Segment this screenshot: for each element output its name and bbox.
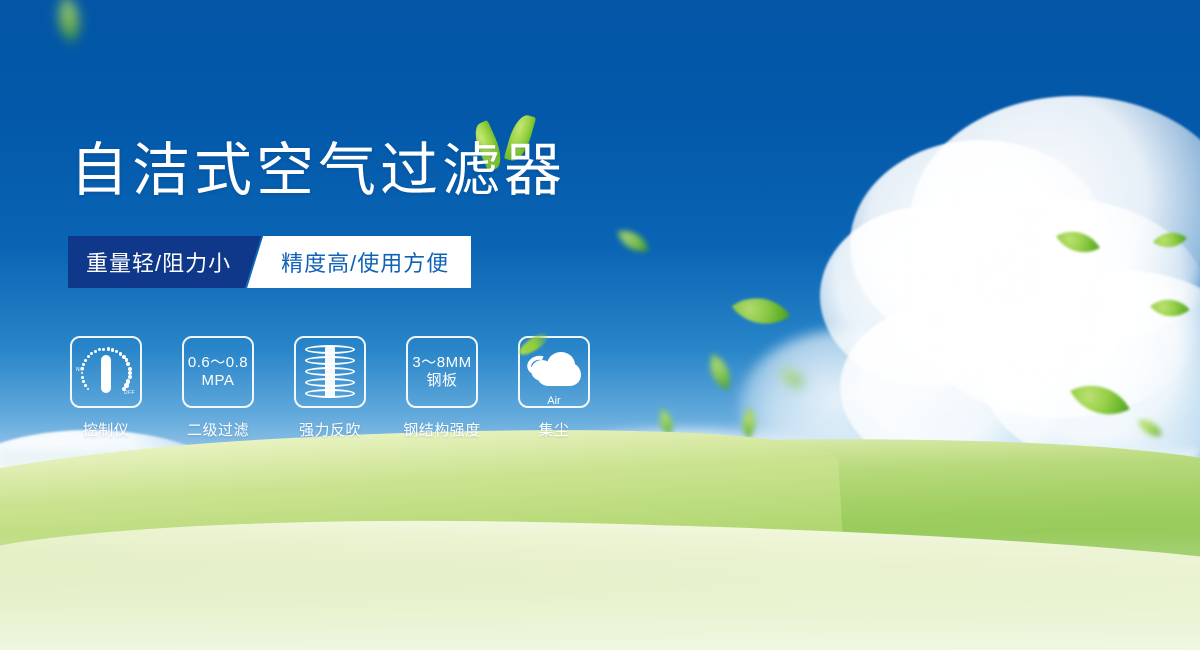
leaf-decoration [45,0,93,43]
leaf-decoration [1150,288,1189,327]
pressure-value-line1: 0.6～0.8 [188,354,248,372]
feature-caption: 强力反吹 [299,419,361,440]
tagline-banner: 重量轻/阻力小 精度高/使用方便 [68,236,471,288]
gauge-tick [90,352,93,355]
gauge-tick [84,384,86,386]
steel-plate-icon: 3～8MM 钢板 [406,336,478,408]
feature-list: NO OFF 控制仪 0.6～0.8 MPA 二级过滤 [70,336,590,440]
leaf-decoration [732,282,791,341]
steel-value-line2: 钢板 [426,372,457,390]
gauge-dial: NO OFF [76,343,136,401]
coil-ring [305,389,355,398]
air-label: Air [525,395,583,407]
gauge-tick [84,359,87,362]
coil-ring [305,345,355,354]
cloud-shape [820,206,1040,386]
coil-shape [305,343,355,401]
leaf-decoration [733,407,764,438]
gauge-tick [111,348,114,351]
feature-item-dust[interactable]: Air 集尘 [518,336,590,440]
feature-item-controller[interactable]: NO OFF 控制仪 [70,336,142,440]
leaf-decoration [1070,370,1130,430]
gauge-tick [81,367,84,370]
gauge-tick [82,363,85,366]
cloud-shape: Air [525,350,583,394]
gauge-label-off: OFF [124,390,135,396]
gauge-tick [102,348,105,351]
hero-banner: 自洁式空气过滤器 重量轻/阻力小 精度高/使用方便 NO OFF 控制仪 0.6… [0,0,1200,650]
feature-item-pressure[interactable]: 0.6～0.8 MPA 二级过滤 [182,336,254,440]
leaf-streak [517,330,552,359]
leaf-decoration [617,225,649,257]
feature-caption: 控制仪 [83,419,130,440]
field-glow [0,532,1200,650]
gauge-tick [87,355,90,358]
feature-caption: 钢结构强度 [403,419,481,440]
gauge-tick [126,362,130,366]
leaf-decoration [1056,220,1100,264]
gauge-tick [82,380,84,382]
tagline-right: 精度高/使用方便 [247,236,471,288]
feature-caption: 二级过滤 [187,419,249,440]
gauge-tick [107,347,110,350]
pressure-icon: 0.6～0.8 MPA [182,336,254,408]
tagline-left: 重量轻/阻力小 [68,236,261,288]
leaf-decoration [702,354,738,390]
grass-field [0,460,1200,650]
gauge-tick [98,348,101,351]
steel-value-line1: 3～8MM [412,354,471,372]
air-cloud-icon: Air [518,336,590,408]
coil-icon [294,336,366,408]
feature-item-blowback[interactable]: 强力反吹 [294,336,366,440]
coil-ring [305,356,355,365]
gauge-tick [115,350,119,354]
leaf-decoration [781,367,804,390]
gauge-needle [101,355,111,393]
gauge-tick [87,388,89,390]
gauge-tick [81,372,84,375]
gauge-icon: NO OFF [70,336,142,408]
gauge-tick [81,376,84,379]
pressure-value-line2: MPA [202,372,235,390]
feature-caption: 集尘 [538,419,569,440]
gauge-tick [128,367,132,371]
gauge-tick [94,350,97,353]
coil-ring [305,378,355,387]
leaf-decoration [1138,416,1162,440]
feature-item-steel[interactable]: 3～8MM 钢板 钢结构强度 [406,336,478,440]
coil-ring [305,367,355,376]
leaf-decoration [1153,223,1187,257]
page-title: 自洁式空气过滤器 [70,142,566,200]
